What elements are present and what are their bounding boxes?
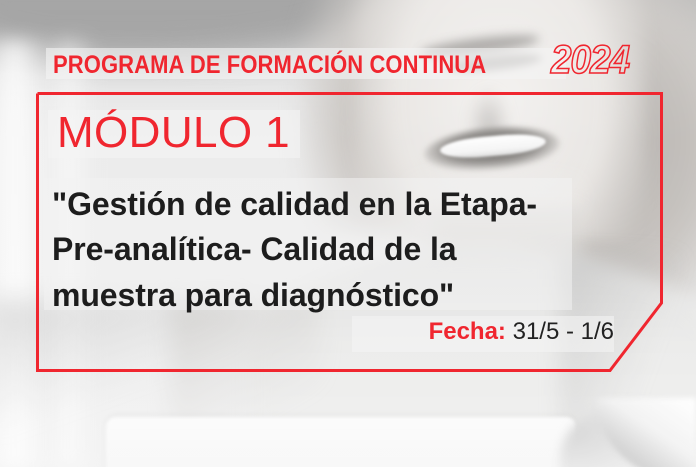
course-title: "Gestión de calidad en la Etapa- Pre-ana… (52, 182, 597, 318)
course-title-line-2: Pre-analítica- Calidad de la (52, 227, 597, 272)
course-title-line-1: "Gestión de calidad en la Etapa- (52, 182, 597, 227)
date-label: Fecha: (429, 318, 506, 345)
module-label: MÓDULO 1 (57, 110, 290, 157)
date-row: Fecha: 31/5 - 1/6 (0, 318, 614, 347)
year-badge: 2024 (551, 40, 629, 80)
program-title: PROGRAMA DE FORMACIÓN CONTINUA (53, 53, 486, 78)
promo-banner: PROGRAMA DE FORMACIÓN CONTINUA 2024 MÓDU… (0, 0, 696, 467)
date-value: 31/5 - 1/6 (513, 318, 614, 345)
course-title-line-3: muestra para diagnóstico" (52, 273, 597, 318)
